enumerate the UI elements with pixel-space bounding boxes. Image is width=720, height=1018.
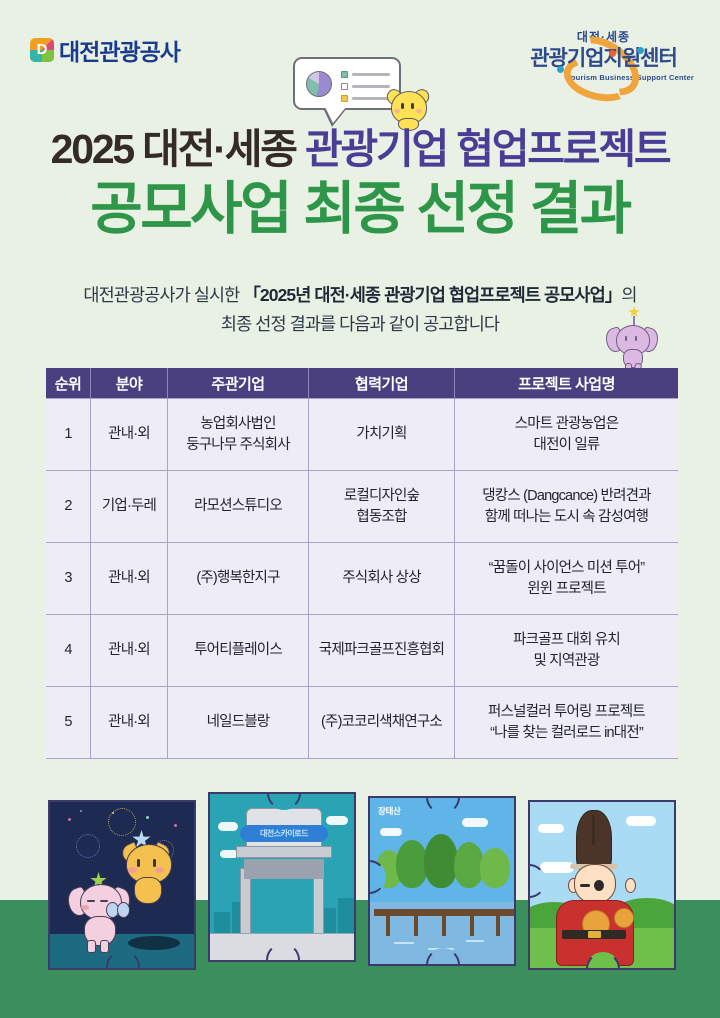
cell-project: 스마트 관광농업은대전이 일류 <box>455 399 679 471</box>
logo-dot-blue-icon <box>557 66 564 73</box>
puzzle-piece-night-fireworks <box>48 800 196 970</box>
cell-project: “꿈돌이 사이언스 미션 투어”윈윈 프로젝트 <box>455 543 679 615</box>
cell-project: 퍼스널컬러 투어링 프로젝트“나를 찾는 컬러로드 in대전” <box>455 687 679 759</box>
table-row: 1 관내·외 농업회사법인둥구나무 주식회사 가치기획 스마트 관광농업은대전이… <box>46 399 678 471</box>
cell-main: (주)행복한지구 <box>168 543 309 615</box>
list-marker-icon <box>341 95 348 102</box>
table-header-row: 순위 분야 주관기업 협력기업 프로젝트 사업명 <box>46 368 678 399</box>
list-marker-icon <box>341 71 348 78</box>
cell-partner: 가치기획 <box>309 399 455 471</box>
cell-project: 댕캉스 (Dangcance) 반려견과함께 떠나는 도시 속 감성여행 <box>455 471 679 543</box>
support-center-logo-main-text: 관광기업지원센터 <box>530 47 677 70</box>
puzzle-piece-jangtaesan: 장태산 <box>368 796 516 966</box>
logo-dot-orange-icon <box>609 50 616 57</box>
results-table-wrapper: 순위 분야 주관기업 협력기업 프로젝트 사업명 1 관내·외 농업회사법인둥구… <box>46 368 674 759</box>
cell-field: 관내·외 <box>91 615 168 687</box>
title-line1-purple: 관광기업 협업프로젝트 <box>305 126 669 172</box>
poster-root: D 대전관광공사 대전·세종 관광기업지원센터 Tourism Business… <box>0 0 720 1018</box>
cell-field: 기업·두레 <box>91 471 168 543</box>
column-header-rank: 순위 <box>46 368 91 399</box>
support-center-logo-main: 관광기업지원센터 <box>511 46 696 72</box>
daejeon-tourism-logo-text: 대전관광공사 <box>59 33 180 67</box>
cell-rank: 1 <box>46 399 91 471</box>
bubble-list-lines <box>341 71 390 107</box>
cell-rank: 5 <box>46 687 91 759</box>
column-header-partner: 협력기업 <box>309 368 455 399</box>
puzzle-illustrations: 대전스카이로드 장태산 <box>0 790 720 1018</box>
results-table-body: 1 관내·외 농업회사법인둥구나무 주식회사 가치기획 스마트 관광농업은대전이… <box>46 399 678 759</box>
pink-character-icon <box>70 880 128 952</box>
gat-hat-icon <box>576 810 612 872</box>
table-row: 4 관내·외 투어티플레이스 국제파크골프진흥협회 파크골프 대회 유치및 지역… <box>46 615 678 687</box>
column-header-main: 주관기업 <box>168 368 309 399</box>
support-center-logo: 대전·세종 관광기업지원센터 Tourism Business Support … <box>511 28 696 82</box>
title-line1-dark: 2025 대전·세종 <box>51 126 296 172</box>
subtitle-part1: 대전관광공사가 실시한 <box>83 285 243 305</box>
column-header-project: 프로젝트 사업명 <box>455 368 679 399</box>
poster-title-line1: 2025 대전·세종 관광기업 협업프로젝트 <box>0 125 720 173</box>
cell-rank: 2 <box>46 471 91 543</box>
subtitle-part2: 의 <box>621 285 636 305</box>
puzzle-piece-hanbok <box>528 800 676 970</box>
cell-partner: 주식회사 상상 <box>309 543 455 615</box>
cell-main: 라모션스튜디오 <box>168 471 309 543</box>
puzzle-piece-skyroad: 대전스카이로드 <box>208 792 356 962</box>
poster-title-line2: 공모사업 최종 선정 결과 <box>0 176 720 242</box>
column-header-field: 분야 <box>91 368 168 399</box>
pie-chart-icon <box>306 71 332 97</box>
bow-icon <box>106 902 130 918</box>
results-table: 순위 분야 주관기업 협력기업 프로젝트 사업명 1 관내·외 농업회사법인둥구… <box>46 368 678 759</box>
pink-mascot-icon <box>604 306 660 372</box>
logo-dot-teal-icon <box>637 47 644 54</box>
cell-main: 네일드블랑 <box>168 687 309 759</box>
table-row: 3 관내·외 (주)행복한지구 주식회사 상상 “꿈돌이 사이언스 미션 투어”… <box>46 543 678 615</box>
cell-partner: (주)코코리색채연구소 <box>309 687 455 759</box>
skyroad-sign-label: 대전스카이로드 <box>260 828 308 839</box>
cell-rank: 3 <box>46 543 91 615</box>
cell-field: 관내·외 <box>91 543 168 615</box>
list-marker-icon <box>341 83 348 90</box>
daejeon-tourism-logo: D 대전관광공사 <box>30 33 180 67</box>
subtitle-bold: 「2025년 대전·세종 관광기업 협업프로젝트 공모사업」 <box>243 285 621 305</box>
cell-partner: 로컬디자인숲협동조합 <box>309 471 455 543</box>
skyroad-sign: 대전스카이로드 <box>240 825 328 842</box>
cell-project: 파크골프 대회 유치및 지역관광 <box>455 615 679 687</box>
cell-main: 투어티플레이스 <box>168 615 309 687</box>
cell-field: 관내·외 <box>91 687 168 759</box>
cell-main: 농업회사법인둥구나무 주식회사 <box>168 399 309 471</box>
table-row: 5 관내·외 네일드블랑 (주)코코리색채연구소 퍼스널컬러 투어링 프로젝트“… <box>46 687 678 759</box>
chart-list-bubble-icon <box>293 57 401 110</box>
logo-mark-letter: D <box>36 41 48 59</box>
cell-partner: 국제파크골프진흥협회 <box>309 615 455 687</box>
jangtaesan-label: 장태산 <box>378 805 401 817</box>
cell-field: 관내·외 <box>91 399 168 471</box>
table-row: 2 기업·두레 라모션스튜디오 로컬디자인숲협동조합 댕캉스 (Dangcanc… <box>46 471 678 543</box>
daejeon-tourism-logo-mark-icon: D <box>30 38 54 62</box>
cell-rank: 4 <box>46 615 91 687</box>
